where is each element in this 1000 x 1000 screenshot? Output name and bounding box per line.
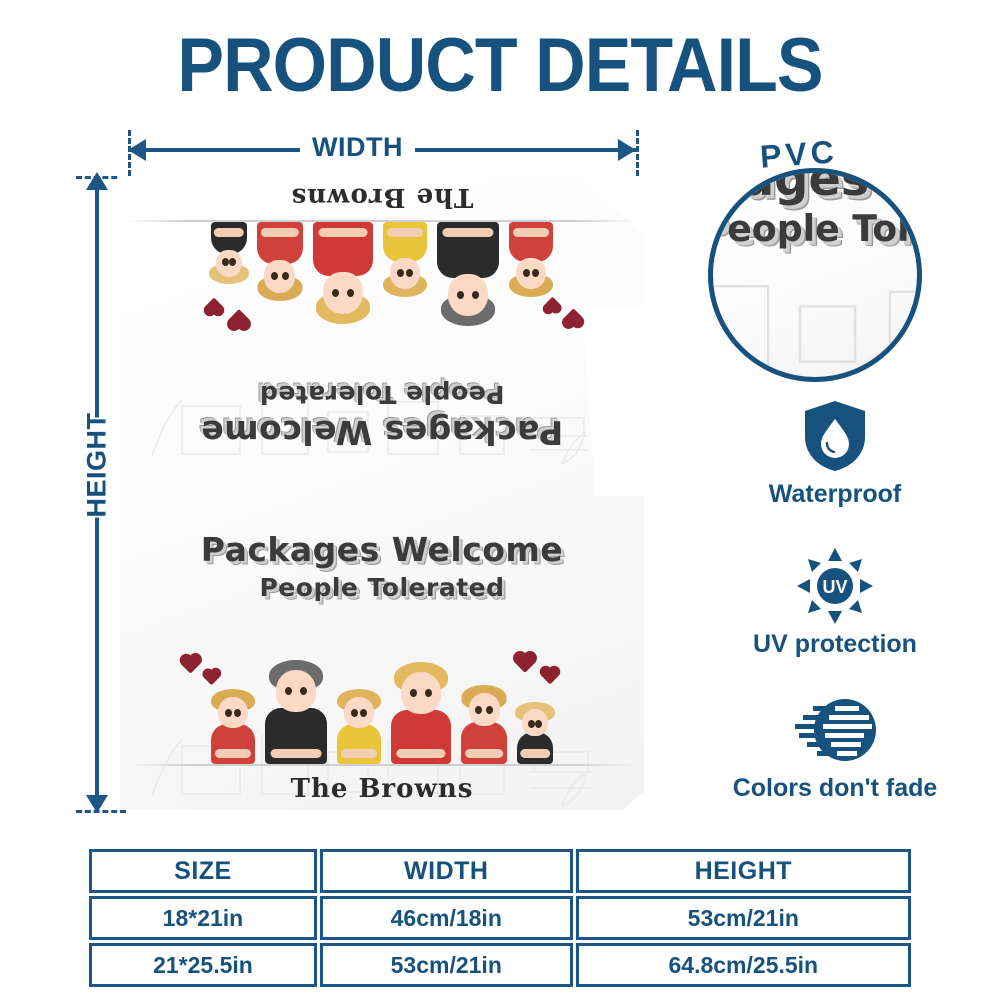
head [516,258,546,290]
feature-label: Colors don't fade [690,774,980,803]
feature-label: UV protection [690,630,980,659]
torso [313,222,373,276]
torso [391,710,451,764]
sign-headline-primary: Packages Welcome [120,530,644,569]
family-member-girl-curly-blonde [505,222,557,297]
eye [535,720,542,728]
waterproof-shield-icon [690,398,980,474]
sign-family-name-reflected: The Browns [120,182,644,212]
height-arrowhead-bottom-icon [86,795,108,813]
page-title: PRODUCT DETAILS [40,22,960,109]
height-arrow-line [95,178,99,810]
size-table: SIZE WIDTH HEIGHT 18*21in 46cm/18in 53cm… [86,846,914,990]
feature-waterproof: Waterproof [690,398,980,509]
torso [211,724,255,764]
eye [351,709,358,717]
table-header-cell: HEIGHT [576,849,911,893]
crossed-arms [387,228,423,237]
table-cell: 64.8cm/25.5in [576,943,911,987]
torso [383,222,427,262]
magnified-room-art [708,269,922,382]
eye [222,258,229,266]
eye [410,689,417,697]
head [448,274,488,316]
crossed-arms [318,228,367,237]
height-extension-top [76,176,126,179]
eye [425,689,432,697]
colors-dont-fade-icon [690,692,980,768]
table-row: 18*21in 46cm/18in 53cm/21in [89,896,911,940]
table-cell: 53cm/21in [320,943,573,987]
sign-headline-secondary-reflected: People Tolerated [120,380,644,409]
crossed-arms [215,749,251,758]
crossed-arms [443,228,494,237]
family-illustration [120,644,644,764]
family-member-girl-curly-blonde [207,689,259,764]
family-member-baby-blonde [513,702,557,764]
height-arrowhead-top-icon [86,172,108,190]
eye [472,291,479,299]
product-sign: Packages Welcome People Tolerated The Br… [120,176,644,810]
uv-sun-icon: UV [690,548,980,624]
head [390,258,420,290]
crossed-arms [513,228,549,237]
width-label: WIDTH [300,132,415,163]
eye [528,720,535,728]
width-extension-left [128,130,131,176]
family-member-mom-blonde [309,222,377,324]
uv-badge-text: UV [822,577,847,597]
torso [517,732,553,764]
eye [300,687,307,695]
torso [337,724,381,764]
torso [437,222,499,278]
head [276,670,316,712]
eye [397,269,404,277]
head [265,260,296,293]
height-extension-bottom [76,810,126,813]
height-label: HEIGHT [82,418,113,518]
eye [360,709,367,717]
crossed-arms [396,749,445,758]
family-illustration-reflected [120,222,644,342]
feature-colors-dont-fade: Colors don't fade [690,692,980,803]
head [323,272,363,314]
table-row: 21*25.5in 53cm/21in 64.8cm/25.5in [89,943,911,987]
torso [509,222,553,262]
magnified-preview-content: Packages Welcome People Tolerated [708,168,922,382]
sign-face-front: Packages Welcome People Tolerated The Br… [120,506,644,810]
head [401,672,441,714]
eye [282,272,289,280]
feature-label: Waterproof [690,480,980,509]
eye [532,269,539,277]
head [218,697,248,729]
family-member-girl-pigtails [379,222,431,297]
sign-headline-primary-reflected: Packages Welcome [120,413,644,452]
eye [225,709,232,717]
head [522,709,548,736]
crossed-arms [271,749,322,758]
sign-face-reflected: Packages Welcome People Tolerated The Br… [120,176,644,476]
head [344,697,374,729]
crossed-arms [520,749,550,758]
family-member-boy-glasses [457,685,511,764]
torso [461,722,507,764]
sign-family-name: The Browns [120,774,644,804]
family-member-girl-pigtails [333,689,385,764]
crossed-arms [214,228,244,237]
table-header-cell: SIZE [89,849,317,893]
sign-shelf-line [128,764,636,766]
magnified-preview-circle: Packages Welcome People Tolerated [708,168,922,382]
table-cell: 18*21in [89,896,317,940]
width-arrow-line [128,148,636,152]
eye [332,289,339,297]
family-member-mom-blonde [387,662,455,764]
eye [457,291,464,299]
eye [486,706,493,714]
eye [229,258,236,266]
eye [406,269,413,277]
eye [523,269,530,277]
width-extension-right [636,130,639,176]
table-header-cell: WIDTH [320,849,573,893]
feature-uv-protection: UV UV protection [690,548,980,659]
eye [347,289,354,297]
head [216,250,242,277]
magnified-headline-secondary: People Tolerated [708,208,922,250]
eye [285,687,292,695]
table-cell: 21*25.5in [89,943,317,987]
head [469,693,500,726]
eye [271,272,278,280]
torso [257,222,303,264]
torso [265,708,327,764]
sign-headline-secondary: People Tolerated [120,573,644,602]
width-arrowhead-left-icon [128,139,146,161]
table-cell: 53cm/21in [576,896,911,940]
table-cell: 46cm/18in [320,896,573,940]
family-member-baby-blonde [207,222,251,284]
family-member-boy-glasses [253,222,307,301]
crossed-arms [261,228,299,237]
crossed-arms [465,749,503,758]
table-header-row: SIZE WIDTH HEIGHT [89,849,911,893]
width-arrowhead-right-icon [618,139,636,161]
magnified-headline-primary: Packages Welcome [708,168,922,206]
eye [234,709,241,717]
family-member-dad-gray-hair [433,222,503,326]
eye [475,706,482,714]
crossed-arms [341,749,377,758]
family-member-dad-gray-hair [261,660,331,764]
